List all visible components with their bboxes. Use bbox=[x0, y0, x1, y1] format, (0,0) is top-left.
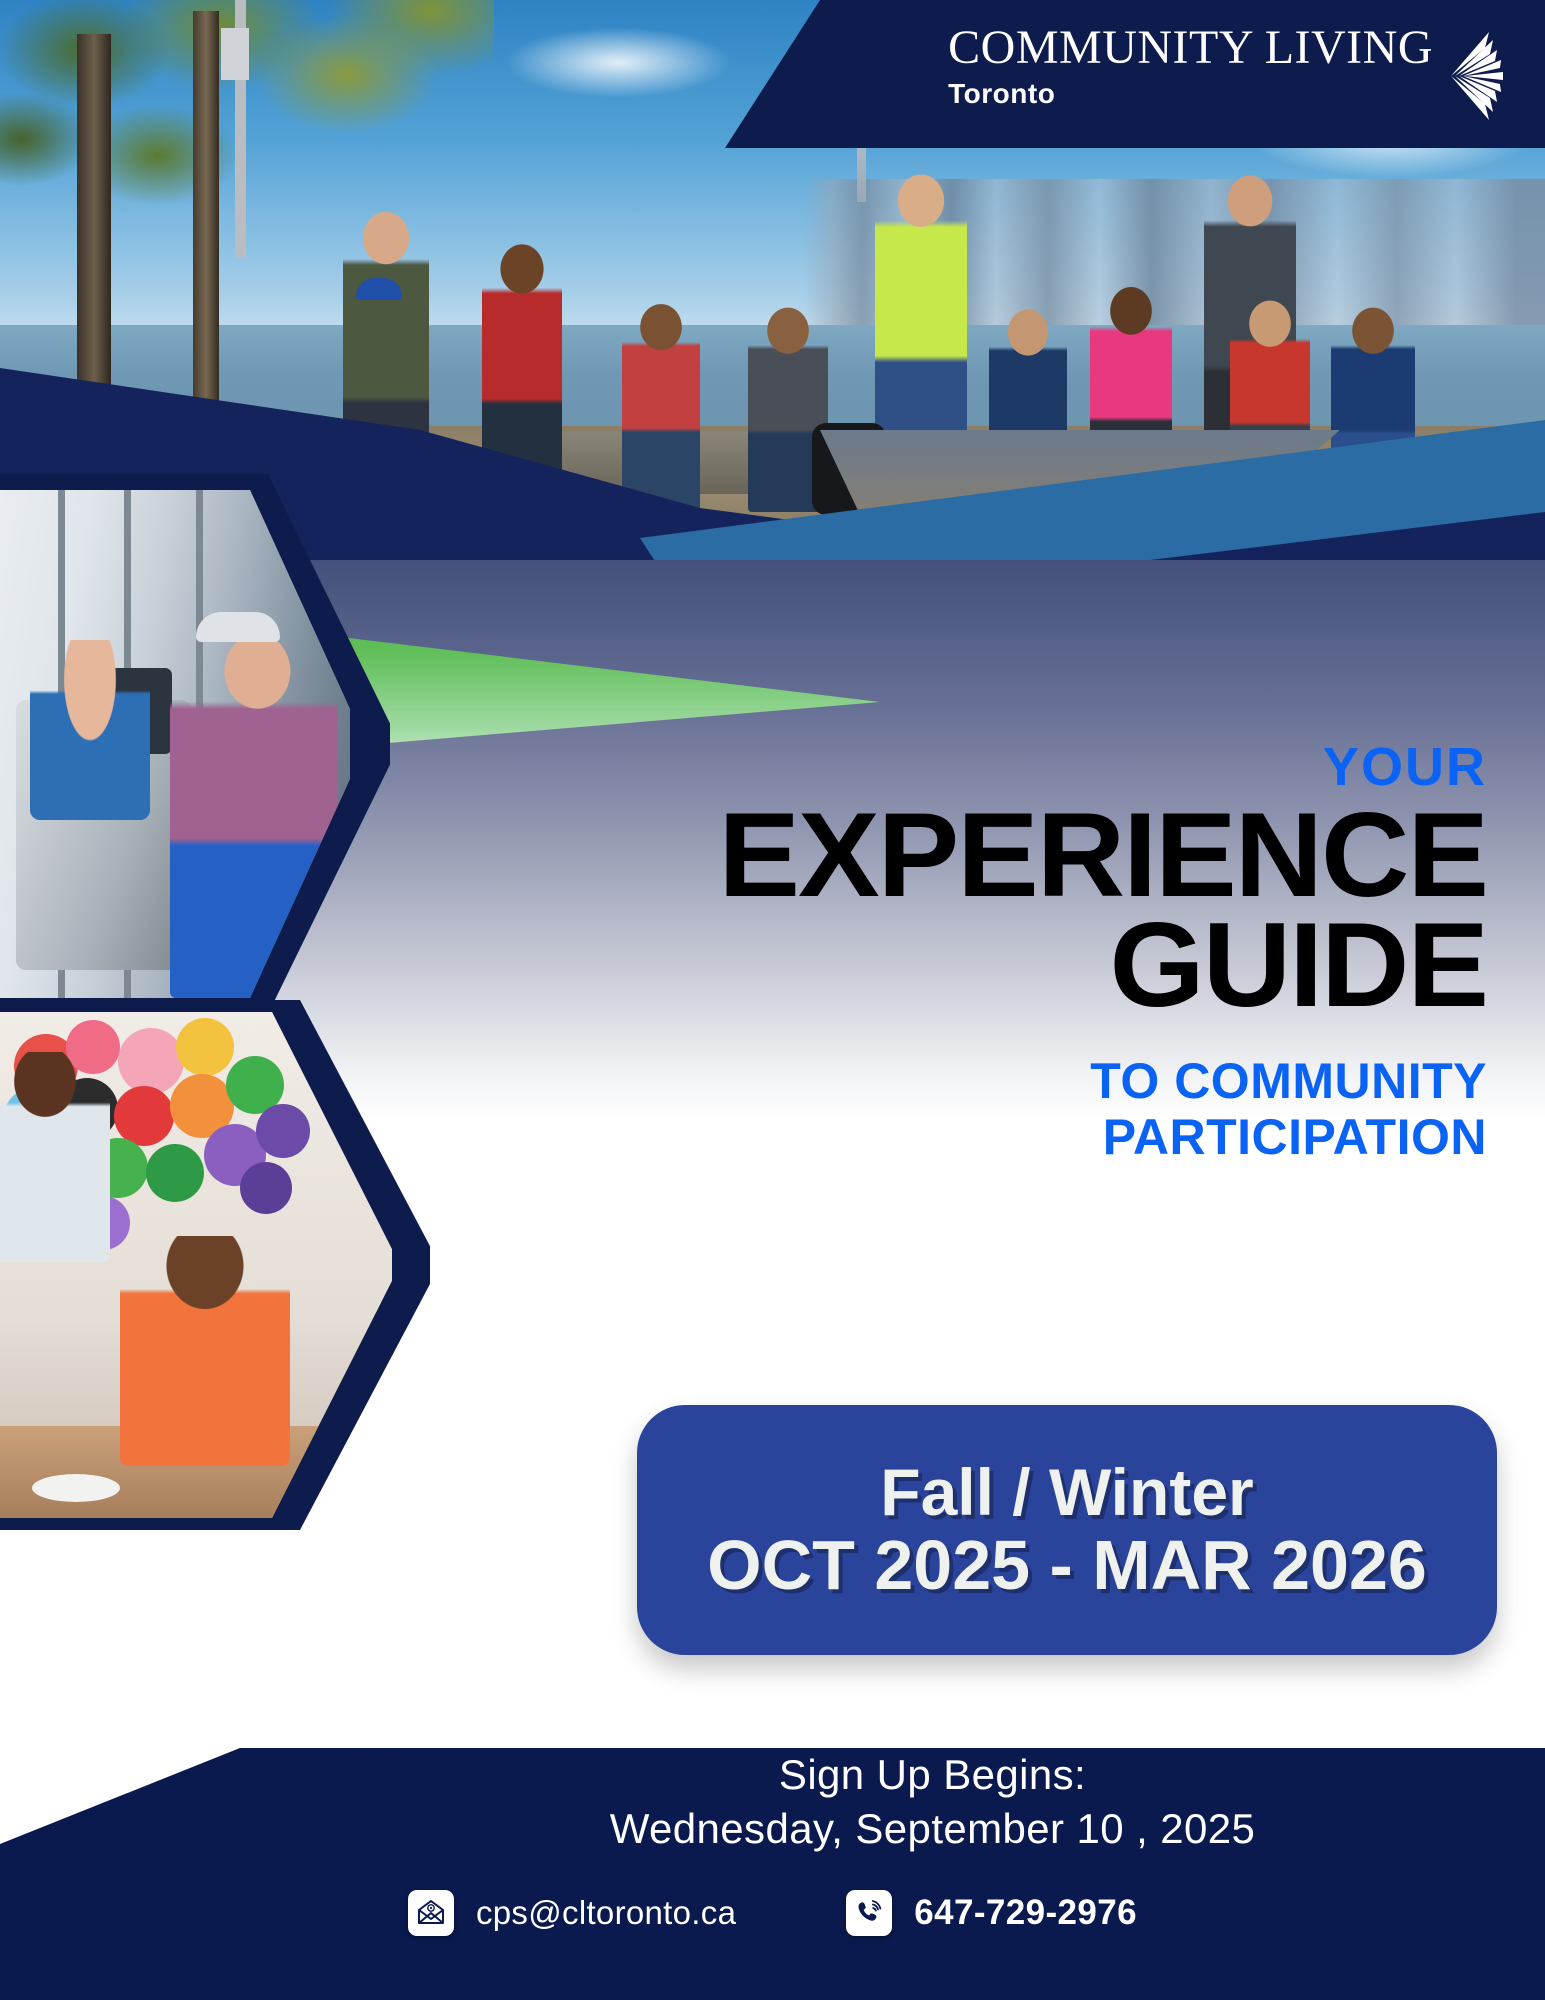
logo-city: Toronto bbox=[948, 78, 1433, 110]
page-subtitle: TO COMMUNITY PARTICIPATION bbox=[587, 1053, 1487, 1165]
baseball-cap bbox=[196, 612, 280, 642]
contact-row: cps@cltoronto.ca 647-729-2976 bbox=[0, 1890, 1545, 1936]
person-seated bbox=[0, 1052, 110, 1262]
email-contact[interactable]: cps@cltoronto.ca bbox=[408, 1890, 736, 1936]
page-title: EXPERIENCE GUIDE bbox=[569, 800, 1487, 1021]
balloon bbox=[114, 1086, 174, 1146]
person-cap-blue bbox=[356, 278, 402, 300]
signup-date: Wednesday, September 10 , 2025 bbox=[320, 1802, 1545, 1856]
envelope-at-icon bbox=[408, 1890, 454, 1936]
plate bbox=[32, 1474, 120, 1502]
season-name: Fall / Winter bbox=[880, 1457, 1253, 1528]
person bbox=[622, 302, 700, 512]
balloon bbox=[146, 1144, 204, 1202]
pole-box bbox=[221, 28, 249, 80]
balloon bbox=[176, 1018, 234, 1076]
poster-page: Community Living Toronto bbox=[0, 0, 1545, 2000]
balloon bbox=[118, 1028, 184, 1094]
logo-wordmark: Community Living bbox=[948, 24, 1433, 72]
balloon bbox=[256, 1104, 310, 1158]
balloon bbox=[240, 1162, 292, 1214]
subtitle-line-1: TO COMMUNITY bbox=[1090, 1053, 1487, 1109]
phone-ringing-icon bbox=[846, 1890, 892, 1936]
title-block: YOUR EXPERIENCE GUIDE TO COMMUNITY PARTI… bbox=[587, 740, 1487, 1165]
person-smiling bbox=[120, 1236, 290, 1466]
sunburst-diamond-icon bbox=[1445, 26, 1509, 126]
season-badge: Fall / Winter OCT 2025 - MAR 2026 bbox=[637, 1405, 1497, 1655]
person-on-bike bbox=[30, 640, 150, 820]
tree-trunk bbox=[193, 11, 219, 459]
brand-logo: Community Living Toronto bbox=[948, 24, 1509, 126]
title-kicker: YOUR bbox=[587, 740, 1487, 794]
email-address[interactable]: cps@cltoronto.ca bbox=[476, 1894, 736, 1932]
title-line-2: GUIDE bbox=[569, 910, 1487, 1020]
season-date-range: OCT 2025 - MAR 2026 bbox=[707, 1528, 1427, 1604]
phone-contact[interactable]: 647-729-2976 bbox=[846, 1890, 1137, 1936]
phone-number[interactable]: 647-729-2976 bbox=[914, 1893, 1137, 1933]
signup-label: Sign Up Begins: bbox=[320, 1748, 1545, 1802]
signup-notice: Sign Up Begins: Wednesday, September 10 … bbox=[320, 1748, 1545, 1856]
subtitle-line-2: PARTICIPATION bbox=[587, 1109, 1487, 1165]
